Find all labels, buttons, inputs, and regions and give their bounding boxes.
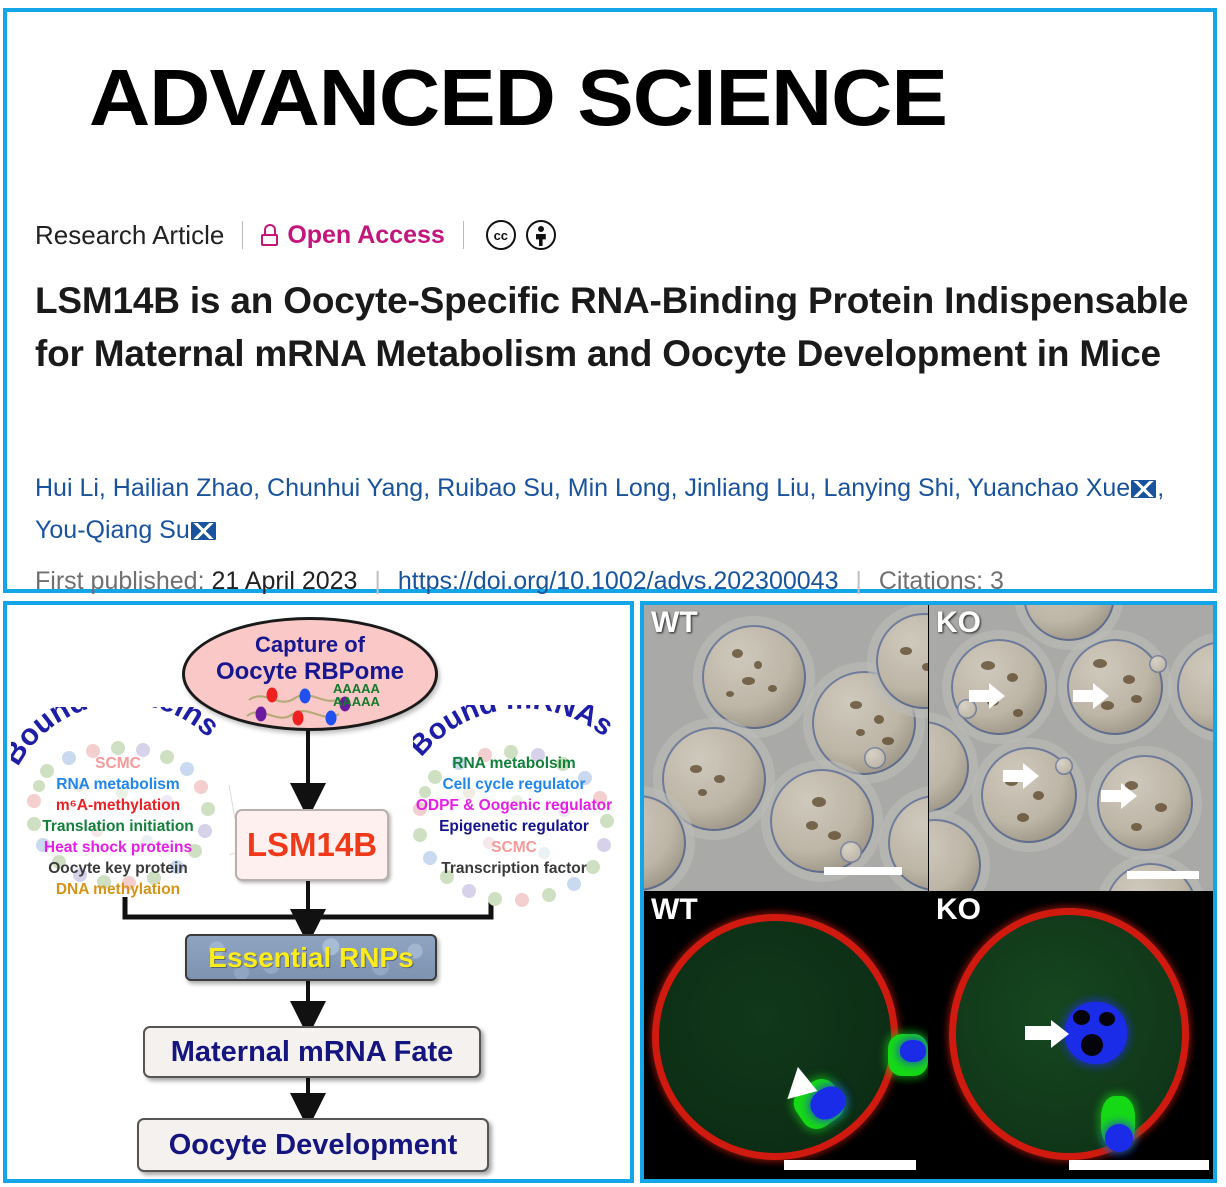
open-access-badge[interactable]: Open Access bbox=[261, 221, 444, 250]
list-item: Epigenetic regulator bbox=[395, 816, 633, 837]
polar-body bbox=[840, 841, 862, 863]
dic-background bbox=[644, 605, 928, 891]
dic-background bbox=[929, 605, 1213, 891]
fluorescence-background bbox=[929, 892, 1213, 1179]
scale-bar bbox=[1127, 871, 1199, 879]
list-item: Transcription factor bbox=[395, 858, 633, 879]
polar-body bbox=[1149, 655, 1167, 673]
cc-by-icon bbox=[526, 220, 556, 250]
lsm14b-node: LSM14B bbox=[235, 809, 389, 881]
list-item: Heat shock proteins bbox=[7, 837, 229, 858]
ellipse-line-2: Oocyte RBPome bbox=[185, 658, 435, 686]
oocyte bbox=[1097, 755, 1193, 851]
list-item: SCMC bbox=[7, 753, 229, 774]
authors-line-2[interactable]: You-Qiang Su bbox=[35, 516, 190, 544]
article-header-card: ADVANCED SCIENCE Research Article Open A… bbox=[3, 8, 1217, 593]
scale-bar bbox=[824, 867, 902, 875]
oocyte bbox=[1177, 641, 1213, 733]
license-icons[interactable]: cc bbox=[486, 220, 556, 250]
list-item: m⁶A-methylation bbox=[7, 795, 229, 816]
meta-divider-1 bbox=[242, 221, 243, 249]
graphical-abstract: Capture of Oocyte RBPome AAAAA bbox=[7, 605, 630, 1179]
first-published-label: First published: bbox=[35, 567, 205, 595]
oocyte-development-label: Oocyte Development bbox=[169, 1129, 457, 1162]
polar-body bbox=[864, 747, 886, 769]
oocyte-development-node: Oocyte Development bbox=[137, 1118, 489, 1172]
polar-body bbox=[957, 699, 977, 719]
article-meta-row: Research Article Open Access cc bbox=[35, 215, 556, 255]
list-item: Cell cycle regulator bbox=[395, 774, 633, 795]
journal-logo: ADVANCED SCIENCE bbox=[89, 57, 1138, 139]
publication-info: First published: 21 April 2023 | https:/… bbox=[35, 561, 1215, 601]
micrograph-wt-dic: WT bbox=[644, 605, 928, 891]
panel-label-wt-fluorescence: WT bbox=[651, 893, 698, 927]
scale-bar bbox=[1069, 1160, 1209, 1170]
open-access-label: Open Access bbox=[287, 221, 444, 250]
article-preview-page: ADVANCED SCIENCE Research Article Open A… bbox=[0, 0, 1226, 1187]
list-item: RNA metabolsim bbox=[395, 753, 633, 774]
author-list: Hui Li, Hailian Zhao, Chunhui Yang, Ruib… bbox=[35, 467, 1220, 551]
meta-divider-2 bbox=[463, 221, 464, 249]
oocyte bbox=[876, 613, 928, 709]
polar-body bbox=[1055, 757, 1073, 775]
list-item: Translation initiation bbox=[7, 816, 229, 837]
panel-label-ko-fluorescence: KO bbox=[936, 893, 981, 927]
polar-body-chromosome bbox=[1105, 1124, 1133, 1152]
pubinfo-divider-2: | bbox=[855, 567, 862, 595]
oocyte bbox=[929, 819, 981, 891]
citations-count: 3 bbox=[990, 567, 1004, 595]
polar-body-chromosome bbox=[900, 1040, 926, 1062]
scale-bar bbox=[784, 1160, 916, 1170]
micrograph-wt-fluorescence: WT bbox=[644, 892, 928, 1179]
maternal-mrna-fate-node: Maternal mRNA Fate bbox=[143, 1026, 481, 1078]
essential-rnps-node: Essential RNPs bbox=[185, 934, 437, 981]
panel-label-ko-dic: KO bbox=[936, 606, 981, 640]
envelope-icon[interactable] bbox=[191, 522, 216, 540]
oocyte bbox=[644, 795, 686, 891]
cortex-membrane bbox=[652, 914, 898, 1160]
cc-icon: cc bbox=[486, 220, 516, 250]
fluorescence-background bbox=[644, 892, 928, 1179]
article-type-label: Research Article bbox=[35, 220, 224, 251]
essential-rnps-label: Essential RNPs bbox=[208, 942, 413, 974]
polyA-tail-label: AAAAA AAAAA bbox=[333, 682, 380, 708]
oocyte bbox=[1067, 639, 1163, 735]
list-item: RNA metabolism bbox=[7, 774, 229, 795]
envelope-icon[interactable] bbox=[1131, 480, 1156, 498]
bound-mrnas-list: RNA metabolsim Cell cycle regulator ODPF… bbox=[395, 753, 633, 879]
author-comma: , bbox=[1157, 474, 1164, 502]
lsm14b-label: LSM14B bbox=[247, 826, 377, 864]
ellipse-line-1: Capture of bbox=[185, 632, 435, 658]
authors-line-1[interactable]: Hui Li, Hailian Zhao, Chunhui Yang, Ruib… bbox=[35, 474, 1130, 502]
open-lock-icon bbox=[261, 224, 278, 246]
oocyte bbox=[1023, 605, 1115, 641]
figure-card: Capture of Oocyte RBPome AAAAA bbox=[3, 601, 1217, 1183]
pubinfo-divider-1: | bbox=[374, 567, 381, 595]
oocyte bbox=[702, 625, 806, 729]
bound-proteins-list: SCMC RNA metabolism m⁶A-methylation Tran… bbox=[7, 753, 229, 900]
oocyte bbox=[888, 795, 928, 891]
maternal-mrna-fate-label: Maternal mRNA Fate bbox=[171, 1036, 454, 1069]
doi-link[interactable]: https://doi.org/10.1002/advs.202300043 bbox=[398, 567, 839, 595]
oocyte bbox=[929, 721, 969, 813]
first-published-date: 21 April 2023 bbox=[211, 567, 357, 595]
page-title: LSM14B is an Oocyte-Specific RNA-Binding… bbox=[35, 274, 1215, 380]
citations-label: Citations: bbox=[879, 567, 983, 595]
micrograph-ko-dic: KO bbox=[929, 605, 1213, 891]
list-item: SCMC bbox=[395, 837, 633, 858]
graphical-abstract-panel: Capture of Oocyte RBPome AAAAA bbox=[3, 601, 634, 1183]
list-item: ODPF & Oogenic regulator bbox=[395, 795, 633, 816]
micrograph-ko-fluorescence: KO bbox=[929, 892, 1213, 1179]
list-item: Oocyte key protein bbox=[7, 858, 229, 879]
list-item: DNA methylation bbox=[7, 879, 229, 900]
micrograph-panel: WT bbox=[640, 601, 1217, 1183]
nucleus-blue bbox=[1065, 1002, 1127, 1064]
panel-label-wt-dic: WT bbox=[651, 606, 698, 640]
